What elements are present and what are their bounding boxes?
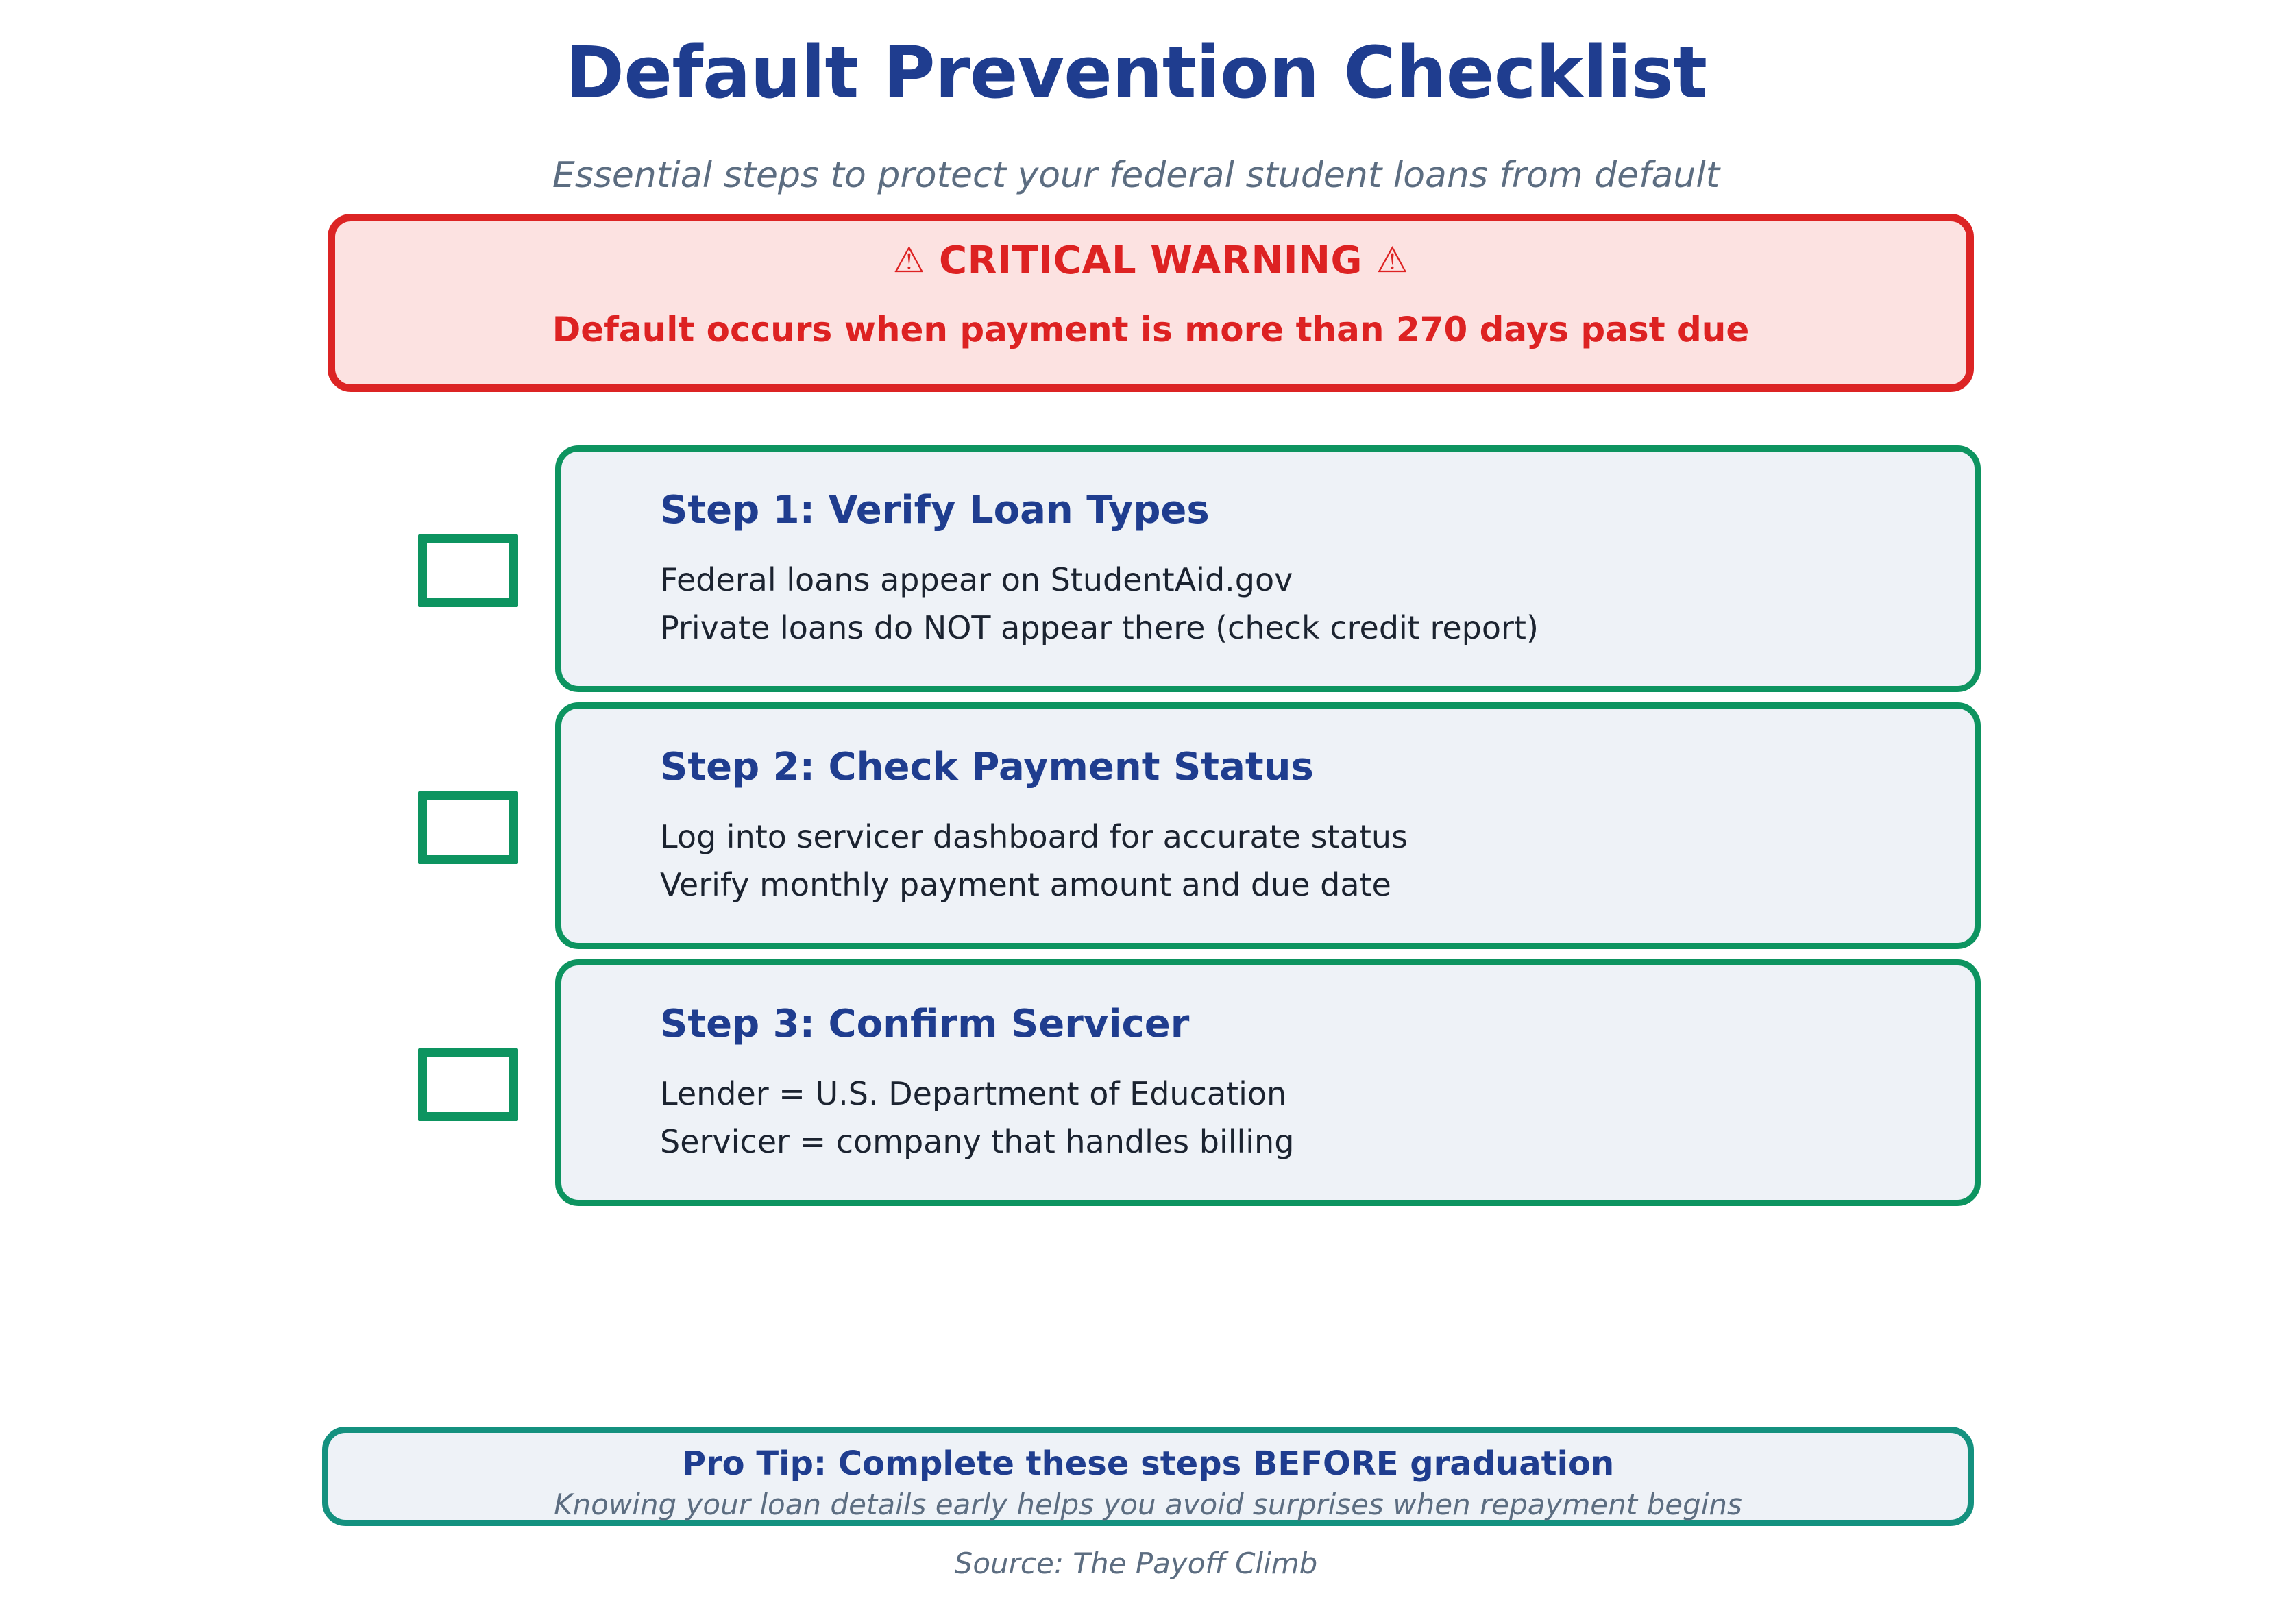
pro-tip-box: Pro Tip: Complete these steps BEFORE gra… — [322, 1427, 1974, 1526]
step-checkbox-3[interactable] — [418, 1048, 518, 1121]
warning-triangle-icon-left: ⚠ — [893, 240, 925, 281]
step-checkbox-2[interactable] — [418, 791, 518, 864]
step-card-2: Step 2: Check Payment Status Log into se… — [555, 702, 1981, 949]
step-title: Step 1: Verify Loan Types — [660, 489, 1210, 532]
step-title: Step 2: Check Payment Status — [660, 746, 1314, 789]
step-card-1: Step 1: Verify Loan Types Federal loans … — [555, 445, 1981, 692]
page-title: Default Prevention Checklist — [0, 36, 2272, 110]
pro-tip-subtitle: Knowing your loan details early helps yo… — [328, 1488, 1968, 1521]
step-detail-line: Verify monthly payment amount and due da… — [660, 866, 1391, 904]
critical-warning-heading: ⚠ CRITICAL WARNING ⚠ — [893, 239, 1408, 283]
step-detail-line: Log into servicer dashboard for accurate… — [660, 818, 1408, 856]
checklist-infographic: Default Prevention Checklist Essential s… — [0, 0, 2272, 1624]
step-row: Step 3: Confirm Servicer Lender = U.S. D… — [0, 959, 2272, 1206]
step-title: Step 3: Confirm Servicer — [660, 1003, 1189, 1046]
step-detail-line: Federal loans appear on StudentAid.gov — [660, 561, 1293, 599]
critical-warning-banner: ⚠ CRITICAL WARNING ⚠ Default occurs when… — [328, 214, 1974, 392]
step-detail-line: Private loans do NOT appear there (check… — [660, 609, 1539, 647]
page-subtitle: Essential steps to protect your federal … — [0, 156, 2272, 195]
critical-warning-message: Default occurs when payment is more than… — [552, 309, 1750, 350]
step-row: Step 1: Verify Loan Types Federal loans … — [0, 445, 2272, 692]
source-note: Source: The Payoff Climb — [0, 1547, 2272, 1580]
step-card-3: Step 3: Confirm Servicer Lender = U.S. D… — [555, 959, 1981, 1206]
warning-triangle-icon-right: ⚠ — [1376, 240, 1408, 281]
step-detail-line: Lender = U.S. Department of Education — [660, 1075, 1286, 1113]
pro-tip-title: Pro Tip: Complete these steps BEFORE gra… — [328, 1445, 1968, 1483]
step-checkbox-1[interactable] — [418, 534, 518, 607]
critical-warning-label: CRITICAL WARNING — [939, 238, 1363, 283]
step-row: Step 2: Check Payment Status Log into se… — [0, 702, 2272, 949]
step-detail-line: Servicer = company that handles billing — [660, 1123, 1294, 1161]
